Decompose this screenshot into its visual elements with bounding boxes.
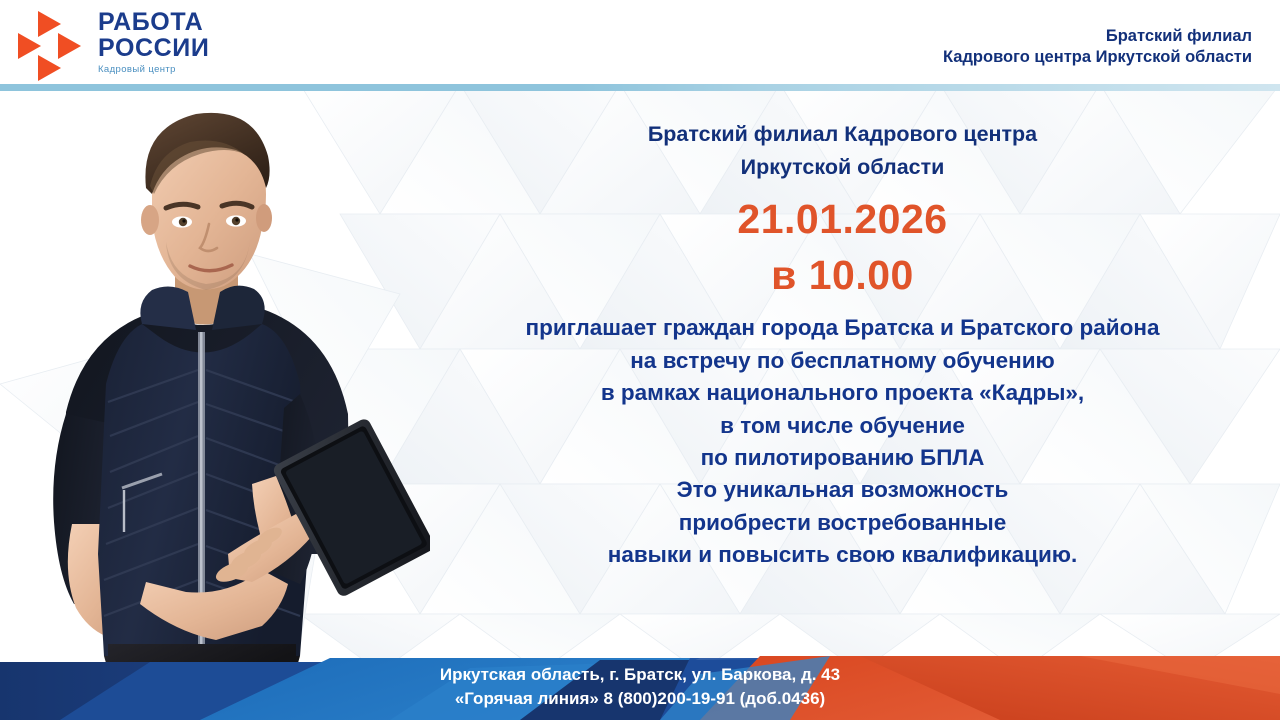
page-header: РАБОТА РОССИИ Кадровый центр Братский фи… <box>0 0 1280 84</box>
event-time: в 10.00 <box>420 253 1265 299</box>
header-divider <box>0 84 1280 91</box>
organization-title-line-2: Кадрового центра Иркутской области <box>943 47 1252 68</box>
footer-address: Иркутская область, г. Братск, ул. Барков… <box>440 663 840 687</box>
body-line-3: в рамках национального проекта «Кадры», <box>420 377 1265 409</box>
body-line-5: по пилотированию БПЛА <box>420 442 1265 474</box>
photo-person <box>0 84 430 670</box>
body-line-1: приглашает граждан города Братска и Брат… <box>420 312 1265 344</box>
rabota-rossii-triangles-icon <box>18 11 90 73</box>
body-line-4: в том числе обучение <box>420 410 1265 442</box>
brand-logo[interactable]: РАБОТА РОССИИ Кадровый центр <box>18 10 209 75</box>
logo-text: РАБОТА РОССИИ Кадровый центр <box>98 10 209 75</box>
logo-line-1: РАБОТА <box>98 10 209 35</box>
footer-contact-info: Иркутская область, г. Братск, ул. Барков… <box>0 654 1280 720</box>
body-line-7: приобрести востребованные <box>420 507 1265 539</box>
organization-title: Братский филиал Кадрового центра Иркутск… <box>943 26 1252 68</box>
body-line-6: Это уникальная возможность <box>420 474 1265 506</box>
heading-line-2: Иркутской области <box>420 151 1265 184</box>
event-date: 21.01.2026 <box>420 197 1265 243</box>
heading-block: Братский филиал Кадрового центра Иркутск… <box>420 118 1265 185</box>
footer-hotline: «Горячая линия» 8 (800)200-19-91 (доб.04… <box>455 687 825 711</box>
body-line-8: навыки и повысить свою квалификацию. <box>420 539 1265 571</box>
logo-subtitle: Кадровый центр <box>98 65 209 75</box>
page-footer: Иркутская область, г. Братск, ул. Барков… <box>0 654 1280 720</box>
body-line-2: на встречу по бесплатному обучению <box>420 345 1265 377</box>
main-content: Братский филиал Кадрового центра Иркутск… <box>420 118 1265 572</box>
triangle-bottom-icon <box>38 55 61 81</box>
organization-title-line-1: Братский филиал <box>943 26 1252 47</box>
body-text-block: приглашает граждан города Братска и Брат… <box>420 312 1265 571</box>
triangle-right-icon <box>58 33 81 59</box>
heading-line-1: Братский филиал Кадрового центра <box>420 118 1265 151</box>
logo-line-2: РОССИИ <box>98 36 209 61</box>
